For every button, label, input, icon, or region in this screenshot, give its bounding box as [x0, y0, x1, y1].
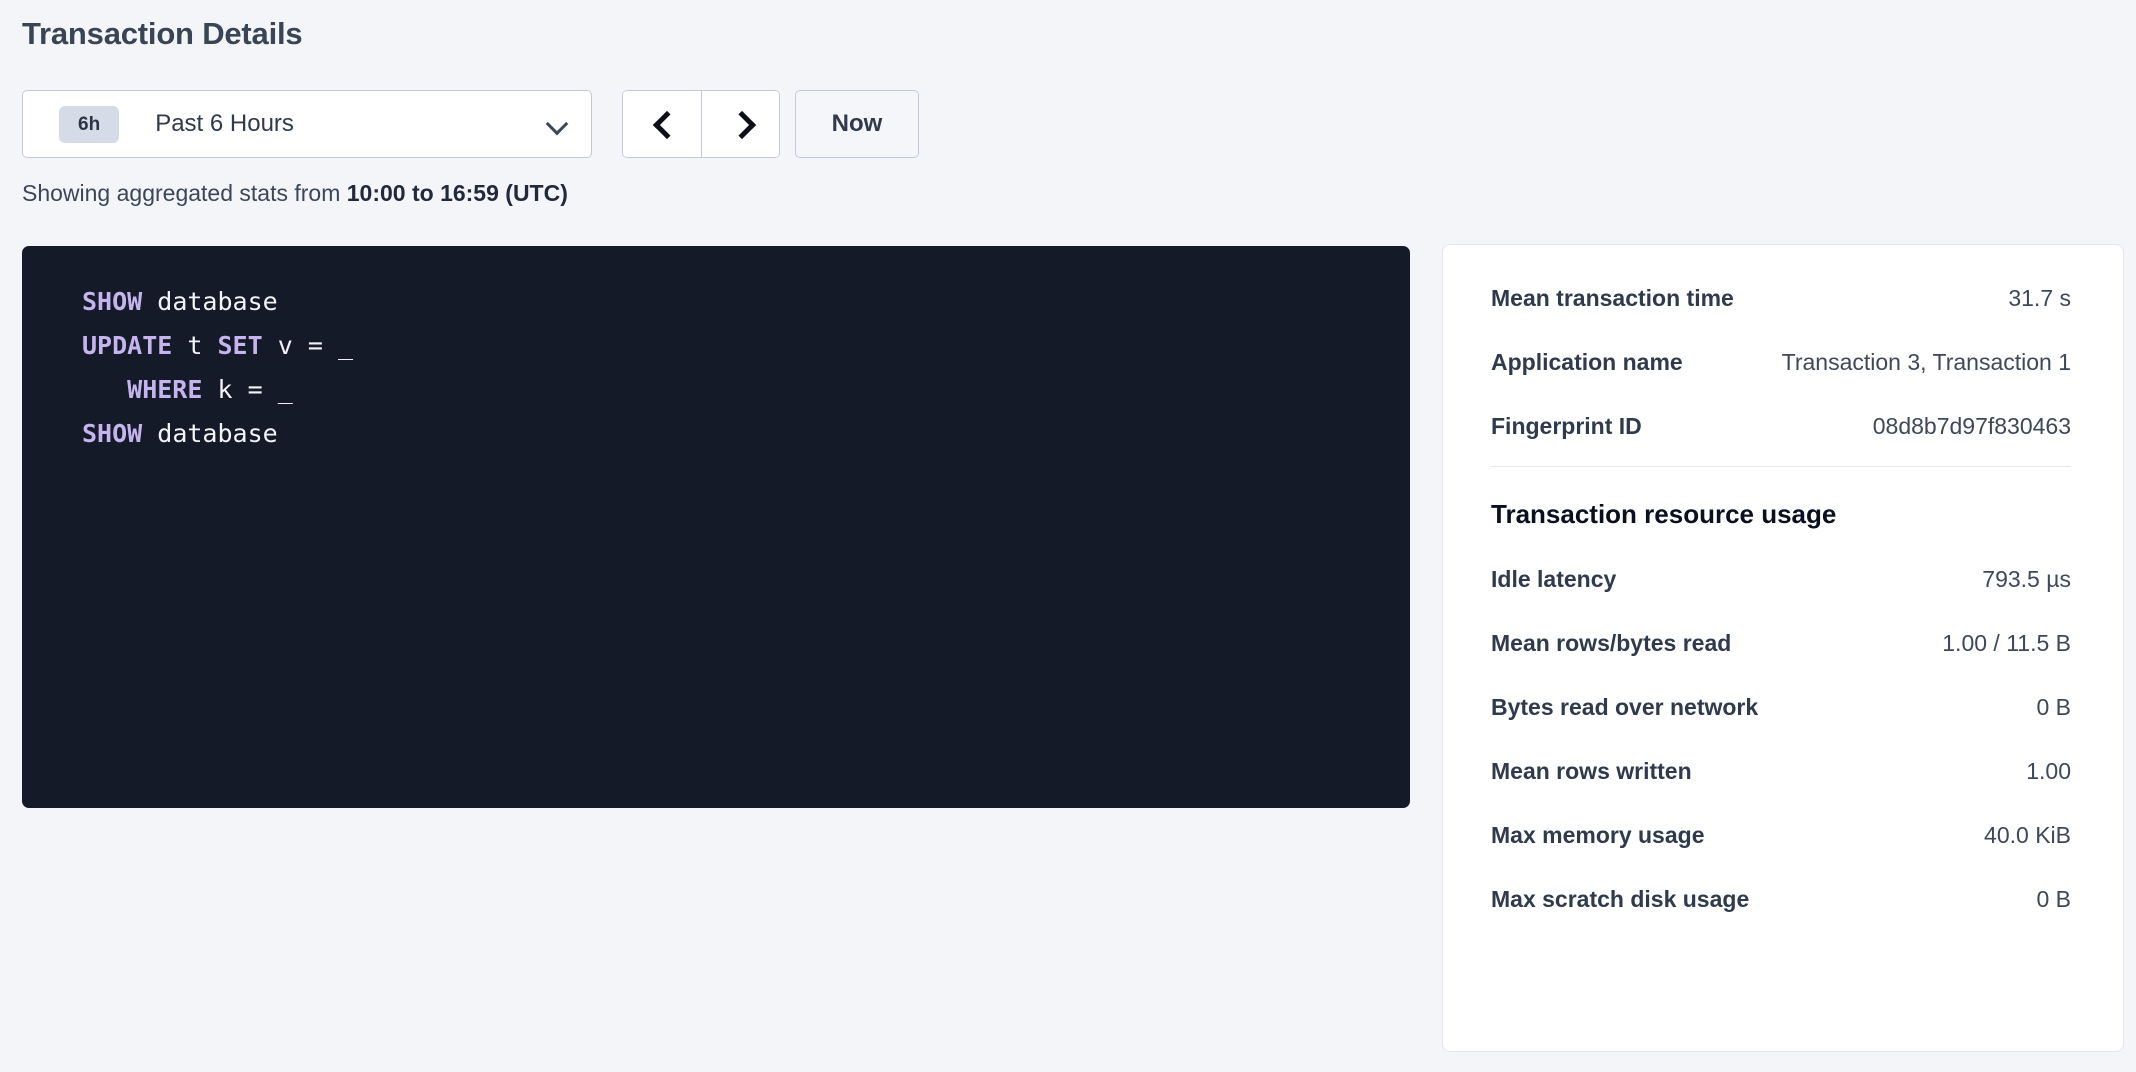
- stat-label: Application name: [1491, 349, 1683, 376]
- code-token-op: [142, 419, 157, 448]
- next-period-button[interactable]: [701, 91, 779, 157]
- previous-period-button[interactable]: [623, 91, 701, 157]
- code-token-id: t: [187, 331, 202, 360]
- code-token-kw: WHERE: [127, 375, 202, 404]
- stat-row: Bytes read over network0 B: [1491, 694, 2071, 721]
- chevron-down-icon: [547, 113, 569, 135]
- stat-row: Application nameTransaction 3, Transacti…: [1491, 349, 2071, 376]
- aggregated-note-range: 10:00 to 16:59 (UTC): [347, 180, 568, 206]
- stat-label: Idle latency: [1491, 566, 1616, 593]
- chevron-right-icon: [731, 114, 751, 134]
- stat-value: 0 B: [2018, 694, 2071, 721]
- code-line: SHOW database: [82, 412, 1410, 456]
- code-token-op: [202, 331, 217, 360]
- stat-label: Mean rows/bytes read: [1491, 630, 1731, 657]
- stat-value: 1.00 / 11.5 B: [1924, 630, 2071, 657]
- code-token-op: [263, 331, 278, 360]
- stat-value: 40.0 KiB: [1966, 822, 2071, 849]
- stat-label: Mean transaction time: [1491, 285, 1734, 312]
- code-line: SHOW database: [82, 280, 1410, 324]
- code-token-id: database: [157, 419, 277, 448]
- code-token-op: [82, 375, 127, 404]
- stat-row: Max scratch disk usage0 B: [1491, 886, 2071, 913]
- stat-value: 08d8b7d97f830463: [1855, 413, 2071, 440]
- code-token-id: database: [157, 287, 277, 316]
- stat-label: Mean rows written: [1491, 758, 1692, 785]
- code-token-id: v: [278, 331, 293, 360]
- code-line: WHERE k = _: [82, 368, 1410, 412]
- sql-statement-code-block: SHOW databaseUPDATE t SET v = _ WHERE k …: [22, 246, 1410, 808]
- time-range-badge: 6h: [59, 106, 119, 143]
- code-token-kw: SET: [218, 331, 263, 360]
- code-token-op: [142, 287, 157, 316]
- code-token-op: [202, 375, 217, 404]
- stat-row: Idle latency793.5 µs: [1491, 566, 2071, 593]
- code-token-kw: SHOW: [82, 419, 142, 448]
- stat-value: 0 B: [2018, 886, 2071, 913]
- stat-value: 1.00: [2008, 758, 2071, 785]
- transaction-details-page: Transaction Details 6h Past 6 Hours Now …: [0, 0, 2136, 1072]
- stat-row: Mean transaction time31.7 s: [1491, 285, 2071, 312]
- code-token-kw: UPDATE: [82, 331, 172, 360]
- code-token-op: =: [233, 375, 278, 404]
- stat-label: Max scratch disk usage: [1491, 886, 1749, 913]
- stat-value: Transaction 3, Transaction 1: [1764, 349, 2071, 376]
- now-button[interactable]: Now: [795, 90, 919, 158]
- stat-label: Bytes read over network: [1491, 694, 1758, 721]
- stat-value: 31.7 s: [1990, 285, 2071, 312]
- code-token-op: [172, 331, 187, 360]
- panel-divider: [1491, 466, 2071, 467]
- stat-row: Fingerprint ID08d8b7d97f830463: [1491, 413, 2071, 440]
- summary-stats-list: Mean transaction time31.7 sApplication n…: [1491, 285, 2071, 440]
- time-range-select[interactable]: 6h Past 6 Hours: [22, 90, 592, 158]
- code-token-op: =: [293, 331, 338, 360]
- code-token-ph: _: [338, 331, 353, 360]
- time-range-label: Past 6 Hours: [155, 110, 547, 138]
- code-line: UPDATE t SET v = _: [82, 324, 1410, 368]
- aggregated-note-prefix: Showing aggregated stats from: [22, 180, 347, 206]
- aggregated-stats-note: Showing aggregated stats from 10:00 to 1…: [22, 180, 568, 207]
- stat-row: Mean rows written1.00: [1491, 758, 2071, 785]
- code-token-id: k: [217, 375, 232, 404]
- code-token-ph: _: [278, 375, 293, 404]
- resource-stats-list: Idle latency793.5 µsMean rows/bytes read…: [1491, 566, 2071, 913]
- chevron-left-icon: [652, 114, 672, 134]
- stat-label: Fingerprint ID: [1491, 413, 1642, 440]
- code-token-kw: SHOW: [82, 287, 142, 316]
- transaction-details-panel: Mean transaction time31.7 sApplication n…: [1442, 244, 2124, 1052]
- time-nav-group: [622, 90, 780, 158]
- page-title: Transaction Details: [22, 16, 302, 52]
- stat-row: Mean rows/bytes read1.00 / 11.5 B: [1491, 630, 2071, 657]
- stat-value: 793.5 µs: [1964, 566, 2071, 593]
- resource-usage-heading: Transaction resource usage: [1491, 499, 2071, 530]
- stat-row: Max memory usage40.0 KiB: [1491, 822, 2071, 849]
- stat-label: Max memory usage: [1491, 822, 1704, 849]
